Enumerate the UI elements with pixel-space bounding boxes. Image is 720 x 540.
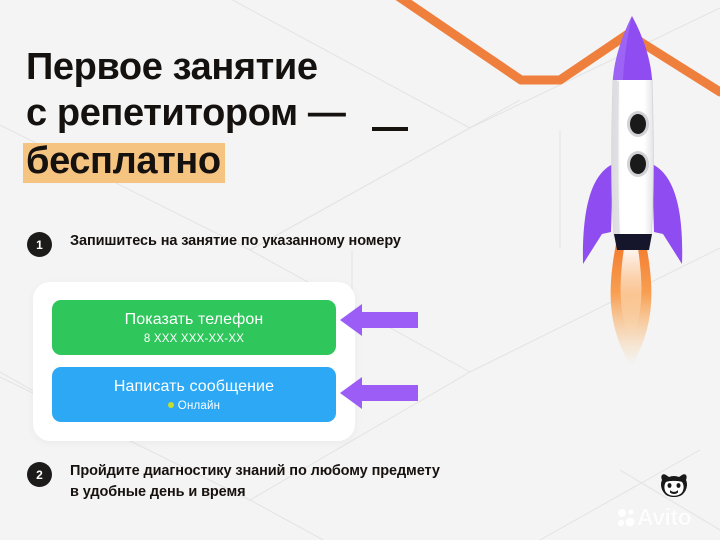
step-text-2-line-2: в удобные день и время	[70, 482, 440, 503]
rocket-window-lower	[627, 151, 649, 177]
send-message-button-label: Написать сообщение	[52, 377, 336, 397]
headline-line-3-highlighted: бесплатно	[26, 138, 221, 184]
avito-watermark: Avito	[617, 472, 715, 534]
rocket-fin-left	[583, 164, 613, 264]
contact-card: Показать телефон 8 XXX XXX-XX-XX Написат…	[33, 282, 355, 441]
online-status-label: Онлайн	[178, 400, 220, 412]
step-number-badge-2: 2	[27, 462, 52, 487]
rocket-nose-cone	[613, 16, 652, 80]
send-message-button[interactable]: Написать сообщение Онлайн	[52, 367, 336, 422]
step-text-1: Запишитесь на занятие по указанному номе…	[70, 231, 401, 252]
rocket-nozzle	[614, 234, 652, 250]
avito-dots-icon	[617, 508, 635, 528]
rocket-flame	[611, 244, 652, 366]
step-number-badge-1: 1	[27, 232, 52, 257]
rocket-body	[612, 78, 654, 236]
page-title: Первое занятие с репетитором — бесплатно	[26, 44, 466, 184]
headline-line-1: Первое занятие	[26, 44, 466, 90]
show-phone-button-number: 8 XXX XXX-XX-XX	[52, 331, 336, 347]
rocket-illustration	[556, 0, 720, 366]
promo-banner: Первое занятие с репетитором — бесплатно…	[0, 0, 720, 540]
headline-line-2: с репетитором —	[26, 90, 466, 136]
rocket-window-upper	[627, 111, 649, 137]
headline-line-3-text: бесплатно	[26, 140, 221, 182]
step-text-2: Пройдите диагностику знаний по любому пр…	[70, 461, 440, 503]
step-item-1: 1 Запишитесь на занятие по указанному но…	[27, 231, 401, 257]
online-status-dot-icon	[168, 402, 174, 408]
rocket-fin-right	[652, 164, 682, 264]
online-status: Онлайн	[52, 398, 336, 414]
show-phone-button[interactable]: Показать телефон 8 XXX XXX-XX-XX	[52, 300, 336, 355]
step-text-2-line-1: Пройдите диагностику знаний по любому пр…	[70, 461, 440, 482]
step-item-2: 2 Пройдите диагностику знаний по любому …	[27, 461, 440, 503]
show-phone-button-label: Показать телефон	[52, 310, 336, 330]
avito-bear-logo-icon	[657, 472, 691, 502]
avito-wordmark: Avito	[637, 504, 691, 531]
step-text-1-line-1: Запишитесь на занятие по указанному номе…	[70, 231, 401, 252]
